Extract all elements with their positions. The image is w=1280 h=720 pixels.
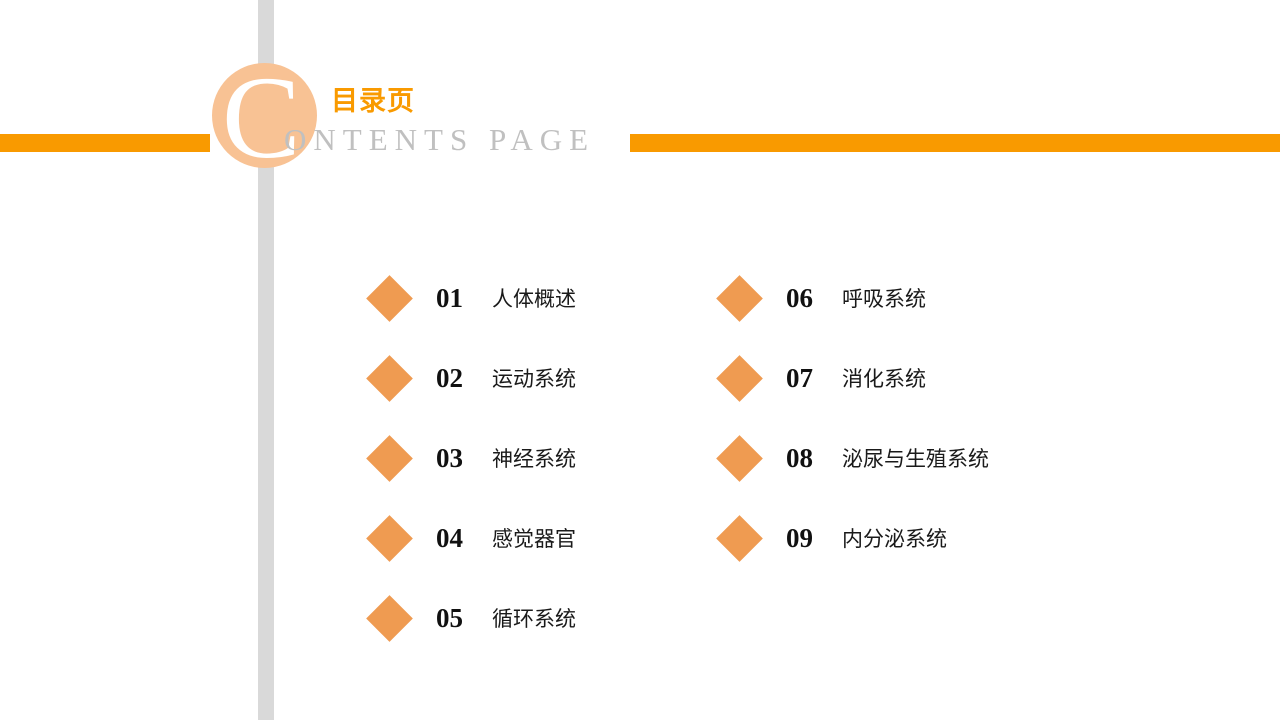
diamond-bullet-icon bbox=[716, 435, 763, 482]
list-item-label: 感觉器官 bbox=[492, 523, 576, 553]
list-item-number: 06 bbox=[786, 283, 834, 314]
diamond-bullet-icon bbox=[716, 275, 763, 322]
diamond-bullet-icon bbox=[366, 275, 413, 322]
list-item[interactable]: 01 人体概述 bbox=[368, 258, 576, 338]
slide-header: C 目录页 ONTENTS PAGE bbox=[0, 0, 1280, 190]
list-item-label: 呼吸系统 bbox=[842, 283, 926, 313]
list-item-number: 08 bbox=[786, 443, 834, 474]
diamond-bullet-icon bbox=[716, 355, 763, 402]
list-item-number: 07 bbox=[786, 363, 834, 394]
list-item[interactable]: 09 内分泌系统 bbox=[718, 498, 989, 578]
list-item-number: 01 bbox=[436, 283, 484, 314]
page-title-en: ONTENTS PAGE bbox=[284, 122, 595, 158]
list-item[interactable]: 08 泌尿与生殖系统 bbox=[718, 418, 989, 498]
list-item-number: 02 bbox=[436, 363, 484, 394]
diamond-bullet-icon bbox=[366, 595, 413, 642]
diamond-bullet-icon bbox=[716, 515, 763, 562]
diamond-bullet-icon bbox=[366, 355, 413, 402]
list-item-number: 05 bbox=[436, 603, 484, 634]
list-item[interactable]: 02 运动系统 bbox=[368, 338, 576, 418]
contents-column-right: 06 呼吸系统 07 消化系统 08 泌尿与生殖系统 09 内分泌系统 bbox=[718, 258, 989, 578]
list-item-number: 04 bbox=[436, 523, 484, 554]
slide-canvas: C 目录页 ONTENTS PAGE 01 人体概述 02 运动系统 03 神经… bbox=[0, 0, 1280, 720]
diamond-bullet-icon bbox=[366, 435, 413, 482]
contents-column-left: 01 人体概述 02 运动系统 03 神经系统 04 感觉器官 05 bbox=[368, 258, 576, 658]
monogram-letter-icon: C bbox=[222, 58, 342, 178]
list-item-label: 泌尿与生殖系统 bbox=[842, 443, 989, 473]
list-item[interactable]: 03 神经系统 bbox=[368, 418, 576, 498]
list-item-label: 循环系统 bbox=[492, 603, 576, 633]
list-item-label: 人体概述 bbox=[492, 283, 576, 313]
list-item[interactable]: 07 消化系统 bbox=[718, 338, 989, 418]
list-item-label: 神经系统 bbox=[492, 443, 576, 473]
list-item[interactable]: 04 感觉器官 bbox=[368, 498, 576, 578]
list-item-number: 03 bbox=[436, 443, 484, 474]
diamond-bullet-icon bbox=[366, 515, 413, 562]
list-item-number: 09 bbox=[786, 523, 834, 554]
list-item-label: 消化系统 bbox=[842, 363, 926, 393]
list-item-label: 运动系统 bbox=[492, 363, 576, 393]
page-title-cn: 目录页 bbox=[331, 79, 415, 118]
list-item-label: 内分泌系统 bbox=[842, 523, 947, 553]
contents-list: 01 人体概述 02 运动系统 03 神经系统 04 感觉器官 05 bbox=[0, 258, 1280, 678]
list-item[interactable]: 06 呼吸系统 bbox=[718, 258, 989, 338]
list-item[interactable]: 05 循环系统 bbox=[368, 578, 576, 658]
